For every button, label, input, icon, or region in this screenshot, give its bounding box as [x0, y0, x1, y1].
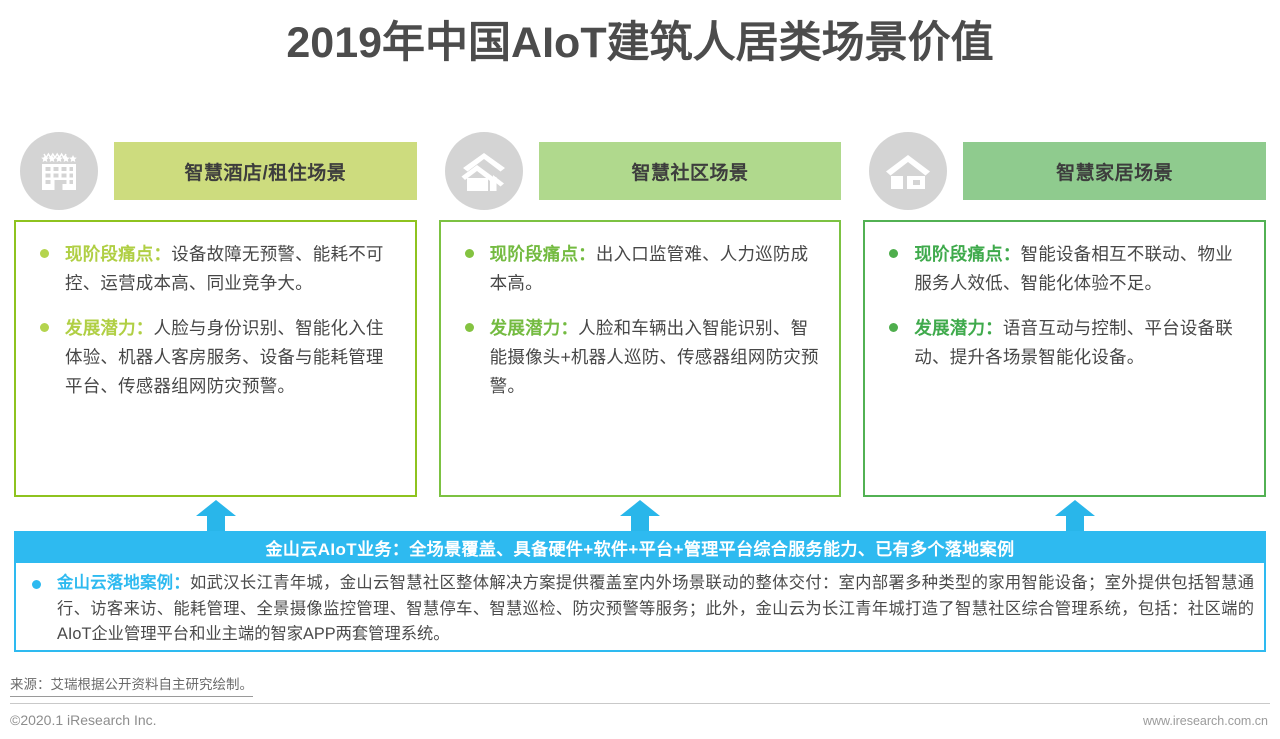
- bullet-label: 现阶段痛点：: [914, 244, 1020, 264]
- case-study-note: 金山云落地案例：如武汉长江青年城，金山云智慧社区整体解决方案提供覆盖室内外场景联…: [14, 563, 1266, 652]
- column-header: 智慧社区场景: [439, 132, 842, 210]
- scenario-content-box: 现阶段痛点：设备故障无预警、能耗不可控、运营成本高、同业竞争大。 发展潜力：人脸…: [14, 220, 417, 497]
- bullet-text: 发展潜力：语音互动与控制、平台设备联动、提升各场景智能化设备。: [914, 314, 1248, 372]
- bullet-label: 现阶段痛点：: [490, 244, 596, 264]
- note-body: 如武汉长江青年城，金山云智慧社区整体解决方案提供覆盖室内外场景联动的整体交付：室…: [57, 574, 1254, 643]
- scenario-label: 智慧酒店/租住场景: [184, 158, 346, 185]
- bullet-item: 发展潜力：人脸和车辆出入智能识别、智能摄像头+机器人巡防、传感器组网防灾预警。: [455, 314, 824, 401]
- bullet-dot-icon: [40, 249, 49, 258]
- bullet-dot-icon: [32, 580, 41, 589]
- smart-home-icon: [869, 132, 947, 210]
- banner-text: 金山云AIoT业务：全场景覆盖、具备硬件+软件+平台+管理平台综合服务能力、已有…: [266, 535, 1015, 560]
- page-title: 2019年中国AIoT建筑人居类场景价值: [0, 12, 1280, 74]
- hotel-building-icon: [20, 132, 98, 210]
- scenario-column-smarthome: 智慧家居场景 现阶段痛点：智能设备相互不联动、物业服务人效低、智能化体验不足。 …: [863, 132, 1266, 497]
- bullet-dot-icon: [889, 249, 898, 258]
- note-label: 金山云落地案例：: [57, 574, 190, 592]
- scenario-column-community: 智慧社区场景 现阶段痛点：出入口监管难、人力巡防成本高。 发展潜力：人脸和车辆出…: [439, 132, 842, 497]
- bullet-text: 现阶段痛点：设备故障无预警、能耗不可控、运营成本高、同业竞争大。: [65, 240, 399, 298]
- bullet-item: 现阶段痛点：出入口监管难、人力巡防成本高。: [455, 240, 824, 298]
- bullet-text: 发展潜力：人脸和车辆出入智能识别、智能摄像头+机器人巡防、传感器组网防灾预警。: [490, 314, 824, 401]
- bullet-dot-icon: [465, 323, 474, 332]
- footer-divider: [10, 703, 1270, 704]
- website-text: www.iresearch.com.cn: [1143, 714, 1268, 728]
- scenario-column-hotel: 智慧酒店/租住场景 现阶段痛点：设备故障无预警、能耗不可控、运营成本高、同业竞争…: [14, 132, 417, 497]
- note-text: 金山云落地案例：如武汉长江青年城，金山云智慧社区整体解决方案提供覆盖室内外场景联…: [57, 571, 1254, 648]
- bullet-text: 现阶段痛点：出入口监管难、人力巡防成本高。: [490, 240, 824, 298]
- scenario-label: 智慧家居场景: [1056, 158, 1173, 185]
- kingsoft-aiot-banner: 金山云AIoT业务：全场景覆盖、具备硬件+软件+平台+管理平台综合服务能力、已有…: [14, 531, 1266, 563]
- bullet-dot-icon: [465, 249, 474, 258]
- bullet-label: 发展潜力：: [914, 318, 1003, 338]
- bullet-dot-icon: [40, 323, 49, 332]
- bullet-dot-icon: [889, 323, 898, 332]
- header-band: 智慧酒店/租住场景: [114, 142, 417, 200]
- column-header: 智慧家居场景: [863, 132, 1266, 210]
- connector-arrows: [0, 500, 1280, 535]
- source-line: 来源：艾瑞根据公开资料自主研究绘制。: [10, 673, 253, 697]
- community-houses-icon: [445, 132, 523, 210]
- bullet-label: 现阶段痛点：: [65, 244, 171, 264]
- bullet-label: 发展潜力：: [65, 318, 154, 338]
- scenario-content-box: 现阶段痛点：智能设备相互不联动、物业服务人效低、智能化体验不足。 发展潜力：语音…: [863, 220, 1266, 497]
- scenario-content-box: 现阶段痛点：出入口监管难、人力巡防成本高。 发展潜力：人脸和车辆出入智能识别、智…: [439, 220, 842, 497]
- column-header: 智慧酒店/租住场景: [14, 132, 417, 210]
- bullet-text: 发展潜力：人脸与身份识别、智能化入住体验、机器人客房服务、设备与能耗管理平台、传…: [65, 314, 399, 401]
- bullet-item: 发展潜力：人脸与身份识别、智能化入住体验、机器人客房服务、设备与能耗管理平台、传…: [30, 314, 399, 401]
- scenario-label: 智慧社区场景: [632, 158, 749, 185]
- header-band: 智慧家居场景: [963, 142, 1266, 200]
- bullet-item: 发展潜力：语音互动与控制、平台设备联动、提升各场景智能化设备。: [879, 314, 1248, 372]
- scenario-columns: 智慧酒店/租住场景 现阶段痛点：设备故障无预警、能耗不可控、运营成本高、同业竞争…: [14, 132, 1266, 497]
- copyright-text: ©2020.1 iResearch Inc.: [10, 712, 157, 728]
- bullet-item: 现阶段痛点：设备故障无预警、能耗不可控、运营成本高、同业竞争大。: [30, 240, 399, 298]
- bullet-item: 现阶段痛点：智能设备相互不联动、物业服务人效低、智能化体验不足。: [879, 240, 1248, 298]
- slide-page: 2019年中国AIoT建筑人居类场景价值: [0, 0, 1280, 739]
- bullet-text: 现阶段痛点：智能设备相互不联动、物业服务人效低、智能化体验不足。: [914, 240, 1248, 298]
- bullet-label: 发展潜力：: [490, 318, 579, 338]
- header-band: 智慧社区场景: [539, 142, 842, 200]
